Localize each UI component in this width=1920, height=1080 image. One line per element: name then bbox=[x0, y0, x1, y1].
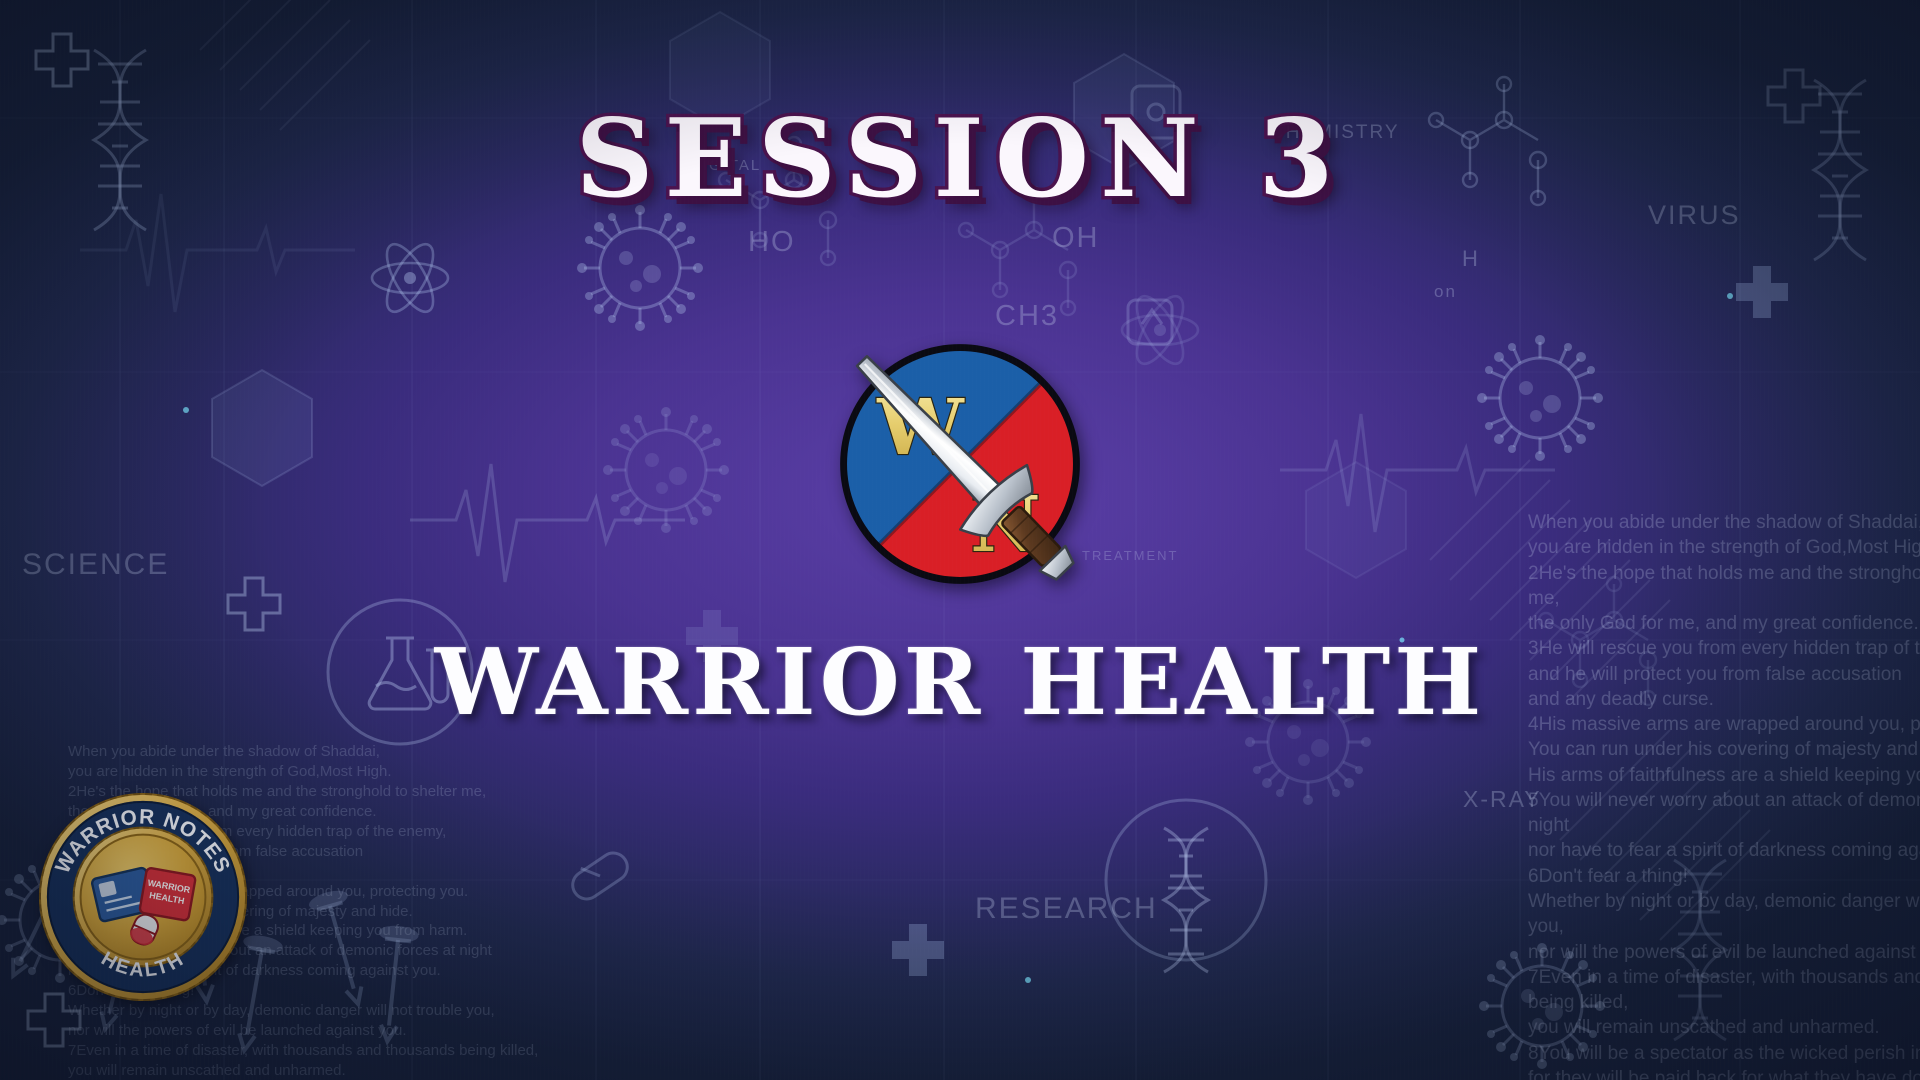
warrior-health-emblem: W N bbox=[812, 316, 1108, 612]
emblem-graphic: W N bbox=[812, 316, 1108, 612]
watermark-label-ho: HO bbox=[748, 226, 796, 259]
slide-canvas: SCIENCE VIRUS X-RAY RESEARCH TREATMENT C… bbox=[0, 0, 1920, 1080]
watermark-label-research: RESEARCH bbox=[975, 892, 1158, 926]
brand-title-text: WARRIOR HEALTH bbox=[435, 628, 1485, 736]
badge-graphic: WARRIOR NOTES HEALTH WARRIOR HEALTH bbox=[34, 788, 252, 1006]
brand-title: WARRIOR HEALTH bbox=[0, 628, 1920, 736]
watermark-label-h: H bbox=[1462, 246, 1480, 272]
scripture-text-right: When you abide under the shadow of Shadd… bbox=[1528, 510, 1920, 1080]
watermark-label-oh: OH bbox=[1052, 222, 1100, 255]
watermark-label-xray: X-RAY bbox=[1463, 786, 1542, 813]
page-title: SESSION 3 bbox=[0, 96, 1920, 222]
watermark-label-on: on bbox=[1434, 282, 1457, 302]
warrior-notes-badge[interactable]: WARRIOR NOTES HEALTH WARRIOR HEALTH bbox=[34, 788, 252, 1006]
watermark-label-science: SCIENCE bbox=[22, 548, 169, 582]
page-title-text: SESSION 3 bbox=[576, 96, 1345, 222]
